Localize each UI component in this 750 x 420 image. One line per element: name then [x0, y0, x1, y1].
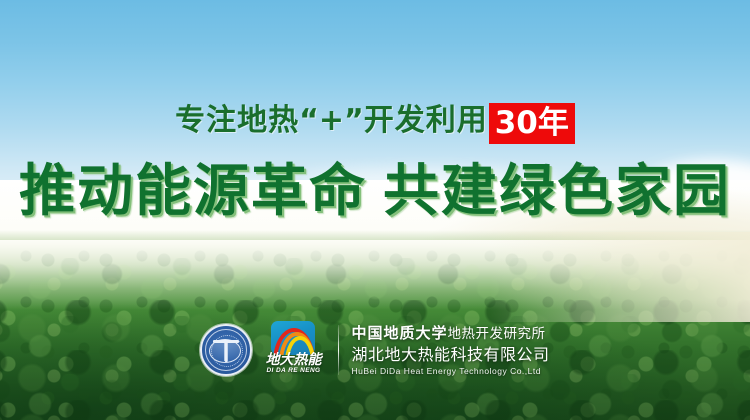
dida-rainbow-square-icon: 地大热能 DI DA RE NENG [262, 321, 324, 379]
headline-part-2: 共建绿色家园 [383, 159, 731, 224]
promotional-banner: 专注地热“+”开发利用30年 推动能源革命共建绿色家园 地大热能 DI DA R… [0, 0, 750, 420]
subtitle-prefix: 专注地热 [175, 103, 299, 138]
org-line-1: 中国地质大学地热开发研究所 [351, 323, 549, 344]
headline: 推动能源革命共建绿色家园 [0, 158, 750, 226]
logo-wordmark-pinyin: DI DA RE NENG [262, 367, 324, 375]
university-seal-icon [200, 324, 252, 376]
subtitle-middle: 开发利用 [364, 103, 488, 138]
footer-logo-bar: 地大热能 DI DA RE NENG 中国地质大学地热开发研究所 湖北地大热能科… [0, 318, 750, 382]
years-badge: 30年 [489, 103, 575, 144]
org-institute-name: 地热开发研究所 [448, 326, 546, 342]
org-university-name: 中国地质大学 [351, 324, 447, 342]
subtitle-quoted-plus: “+” [299, 103, 364, 138]
logo-wordmark-cn: 地大热能 [262, 352, 324, 368]
logo-square-shape [271, 321, 315, 355]
organization-text-block: 中国地质大学地热开发研究所 湖北地大热能科技有限公司 HuBei DiDa He… [351, 323, 549, 378]
vertical-divider [338, 325, 339, 375]
org-line-3-english: HuBei DiDa Heat Energy Technology Co.,Lt… [351, 365, 549, 378]
headline-part-1: 推动能源革命 [19, 159, 367, 224]
subtitle-line: 专注地热“+”开发利用30年 [0, 98, 750, 144]
seal-vertical-stem [225, 340, 228, 362]
org-line-2: 湖北地大热能科技有限公司 [351, 344, 549, 365]
